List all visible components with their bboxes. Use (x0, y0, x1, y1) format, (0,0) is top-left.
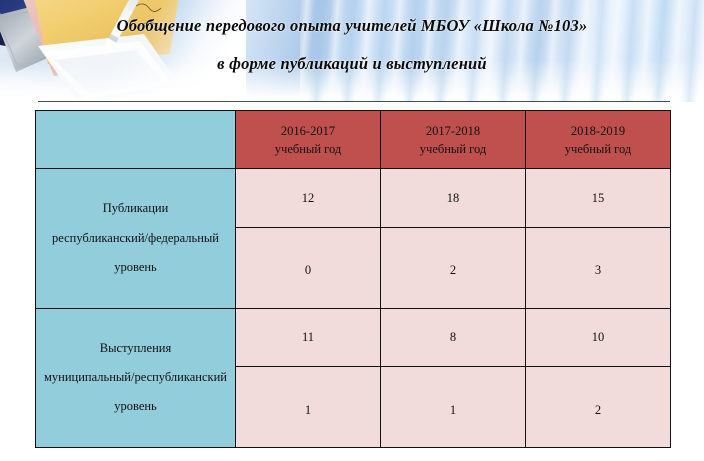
results-table-container: 2016-2017 учебный год 2017-2018 учебный … (35, 110, 670, 448)
column-header-year: 2016-2017 (236, 122, 380, 140)
table-cell-value: 10 (526, 308, 671, 367)
table-cell-value: 0 (236, 227, 381, 308)
title-line-2: в форме публикаций и выступлений (0, 54, 704, 74)
row-label-presentations: Выступления муниципальный/республикански… (36, 308, 236, 447)
column-header-unit: учебный год (236, 140, 380, 158)
table-cell-value: 2 (381, 227, 526, 308)
table-cell-value: 1 (236, 367, 381, 448)
row-label-line: муниципальный/республиканский (36, 363, 235, 392)
column-header-2017-2018: 2017-2018 учебный год (381, 111, 526, 169)
row-label-line: республиканский/федеральный (36, 224, 235, 253)
background-blue-streaks (300, 0, 704, 102)
row-label-line: уровень (36, 392, 235, 421)
notebooks-and-pen-decoration (0, 0, 246, 106)
table-cell-value: 1 (381, 367, 526, 448)
table-cell-value: 3 (526, 227, 671, 308)
table-cell-value: 12 (236, 169, 381, 228)
table-row: Публикации республиканский/федеральный у… (36, 169, 671, 228)
table-row: Выступления муниципальный/республикански… (36, 308, 671, 367)
column-header-unit: учебный год (381, 140, 525, 158)
table-cell-value: 18 (381, 169, 526, 228)
row-label-line: Публикации (36, 194, 235, 223)
slide-canvas: Обобщение передового опыта учителей МБОУ… (0, 0, 704, 461)
table-cell-value: 15 (526, 169, 671, 228)
results-table: 2016-2017 учебный год 2017-2018 учебный … (35, 110, 671, 448)
column-header-year: 2018-2019 (526, 122, 670, 140)
column-header-unit: учебный год (526, 140, 670, 158)
slide-title: Обобщение передового опыта учителей МБОУ… (0, 16, 704, 74)
table-cell-value: 2 (526, 367, 671, 448)
row-label-line: Выступления (36, 334, 235, 363)
title-line-1: Обобщение передового опыта учителей МБОУ… (0, 16, 704, 36)
header-divider-rule (38, 101, 670, 102)
column-header-year: 2017-2018 (381, 122, 525, 140)
table-header-row: 2016-2017 учебный год 2017-2018 учебный … (36, 111, 671, 169)
table-corner-cell (36, 111, 236, 169)
row-label-line: уровень (36, 253, 235, 282)
table-cell-value: 8 (381, 308, 526, 367)
row-label-publications: Публикации республиканский/федеральный у… (36, 169, 236, 308)
column-header-2018-2019: 2018-2019 учебный год (526, 111, 671, 169)
column-header-2016-2017: 2016-2017 учебный год (236, 111, 381, 169)
table-cell-value: 11 (236, 308, 381, 367)
background-blue-gradient (0, 0, 704, 102)
